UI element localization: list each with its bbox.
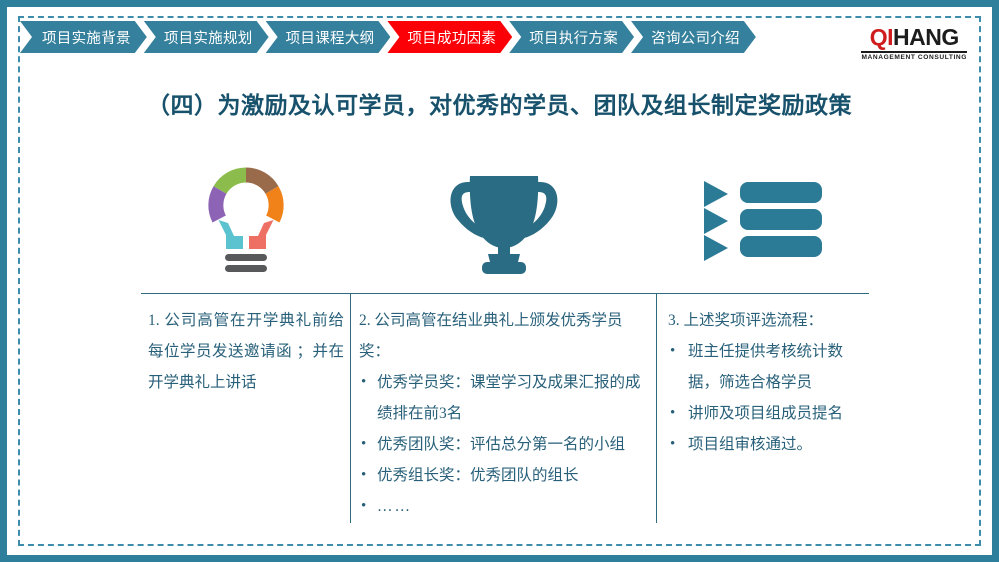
logo-wordmark-part1: QI	[870, 24, 893, 50]
trophy-icon	[442, 166, 566, 281]
logo-tagline: MANAGEMENT CONSULTING	[861, 54, 967, 61]
nav-tab-3-label: 项目课程大纲	[286, 27, 375, 48]
breadcrumb-nav: 项目实施背景 项目实施规划 项目课程大纲 项目成功因素 项目执行方案 咨询公司介…	[20, 21, 753, 53]
icon-row	[141, 166, 869, 281]
list-item: ……	[359, 491, 651, 522]
list-item: 班主任提供考核统计数据，筛选合格学员	[668, 336, 864, 398]
logo-wordmark-part2: HANG	[893, 24, 959, 50]
list-item: 讲师及项目组成员提名	[668, 398, 864, 429]
lightbulb-icon	[198, 165, 294, 282]
logo-wordmark: QIHANG	[861, 26, 967, 49]
icon-cell-3	[657, 166, 869, 281]
list-item: 优秀学员奖：课堂学习及成果汇报的成绩排在前3名	[359, 367, 651, 429]
nav-tab-4-active[interactable]: 项目成功因素	[387, 21, 512, 53]
column-3-bullet-list: 班主任提供考核统计数据，筛选合格学员 讲师及项目组成员提名 项目组审核通过。	[668, 336, 864, 460]
logo-divider	[861, 51, 967, 53]
nav-tab-1-label: 项目实施背景	[42, 27, 131, 48]
column-2-bullet-list: 优秀学员奖：课堂学习及成果汇报的成绩排在前3名 优秀团队奖：评估总分第一名的小组…	[359, 367, 651, 522]
nav-tab-6-label: 咨询公司介绍	[651, 27, 740, 48]
nav-tab-5-label: 项目执行方案	[529, 27, 618, 48]
company-logo: QIHANG MANAGEMENT CONSULTING	[861, 26, 967, 61]
columns-top-divider	[141, 293, 869, 294]
text-column-1: 1. 公司高管在开学典礼前给每位学员发送邀请函 ；并在开学典礼上讲话	[148, 305, 344, 398]
list-item: 优秀组长奖：优秀团队的组长	[359, 460, 651, 491]
list-item: 项目组审核通过。	[668, 429, 864, 460]
slide-canvas: 项目实施背景 项目实施规划 项目课程大纲 项目成功因素 项目执行方案 咨询公司介…	[0, 0, 999, 562]
nav-tab-5[interactable]: 项目执行方案	[509, 21, 634, 53]
nav-tab-1[interactable]: 项目实施背景	[20, 21, 147, 53]
text-column-2: 2. 公司高管在结业典礼上颁发优秀学员奖： 优秀学员奖：课堂学习及成果汇报的成绩…	[359, 305, 651, 522]
nav-tab-2[interactable]: 项目实施规划	[144, 21, 269, 53]
list-item: 优秀团队奖：评估总分第一名的小组	[359, 429, 651, 460]
checklist-icon	[702, 179, 824, 268]
nav-tab-6[interactable]: 咨询公司介绍	[631, 21, 756, 53]
column-3-lead: 3. 上述奖项评选流程：	[668, 305, 864, 336]
nav-tab-3[interactable]: 项目课程大纲	[266, 21, 391, 53]
column-1-lead: 1. 公司高管在开学典礼前给每位学员发送邀请函 ；并在开学典礼上讲话	[148, 305, 344, 398]
column-2-lead: 2. 公司高管在结业典礼上颁发优秀学员奖：	[359, 305, 651, 367]
column-divider-1	[350, 293, 351, 523]
page-title: （四）为激励及认可学员，对优秀的学员、团队及组长制定奖励政策	[0, 86, 999, 120]
icon-cell-2	[351, 166, 657, 281]
nav-tab-4-label: 项目成功因素	[407, 27, 496, 48]
text-column-3: 3. 上述奖项评选流程： 班主任提供考核统计数据，筛选合格学员 讲师及项目组成员…	[668, 305, 864, 460]
column-divider-2	[656, 293, 657, 523]
nav-tab-2-label: 项目实施规划	[164, 27, 253, 48]
icon-cell-1	[141, 166, 351, 281]
